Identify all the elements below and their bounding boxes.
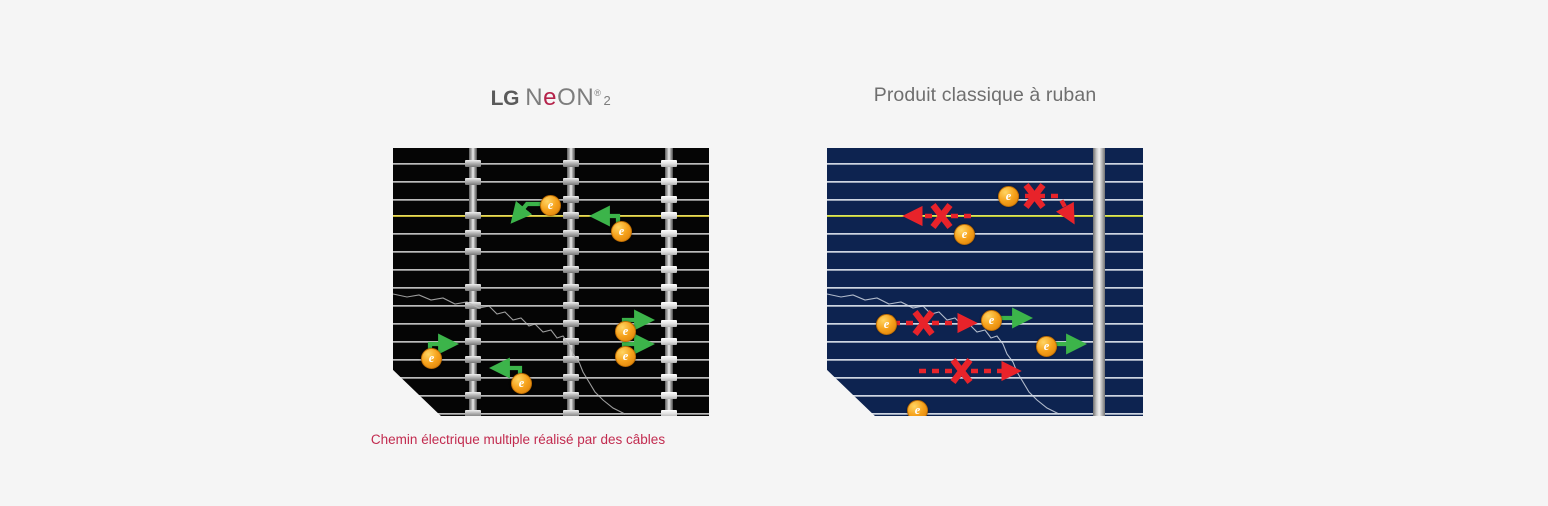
right-electron-flow-arrows: [827, 148, 1143, 416]
electron-marker: e: [954, 224, 975, 245]
blocked-path: [1012, 185, 1070, 216]
left-panel-title: LGNeON®2: [393, 86, 709, 110]
right-solar-cell-illustration: e e e e e e: [827, 148, 1143, 416]
electron-marker: e: [998, 186, 1019, 207]
right-panel-title: Produit classique à ruban: [827, 86, 1143, 106]
electron-marker: e: [876, 314, 897, 335]
left-solar-cell-illustration: e e e e e e: [393, 148, 709, 416]
electron-marker: e: [981, 310, 1002, 331]
lg-neon2-logo: LGNeON®2: [491, 86, 612, 110]
logo-letter-e-accent: e: [543, 84, 557, 111]
electron-marker: e: [540, 195, 561, 216]
logo-lg-text: LG: [491, 87, 520, 110]
logo-letters-on: ON: [557, 84, 594, 111]
logo-suffix-2: 2: [604, 93, 612, 108]
electron-marker: e: [1036, 336, 1057, 357]
electron-marker: e: [615, 321, 636, 342]
electron-marker: e: [611, 221, 632, 242]
electron-marker: e: [615, 346, 636, 367]
left-panel-caption: Chemin électrique multiple réalisé par d…: [360, 432, 676, 447]
logo-neon-text: NeON®2: [525, 84, 611, 111]
registered-mark-icon: ®: [594, 88, 601, 98]
electron-marker: e: [907, 400, 928, 416]
blocked-path: [893, 312, 968, 334]
blocked-path: [919, 360, 1012, 382]
electron-marker: e: [421, 348, 442, 369]
comparison-stage: LGNeON®2 Produit classique à ruban: [0, 0, 1548, 506]
electron-marker: e: [511, 373, 532, 394]
left-electron-flow-arrows: [393, 148, 709, 416]
logo-letter-n: N: [525, 84, 543, 111]
